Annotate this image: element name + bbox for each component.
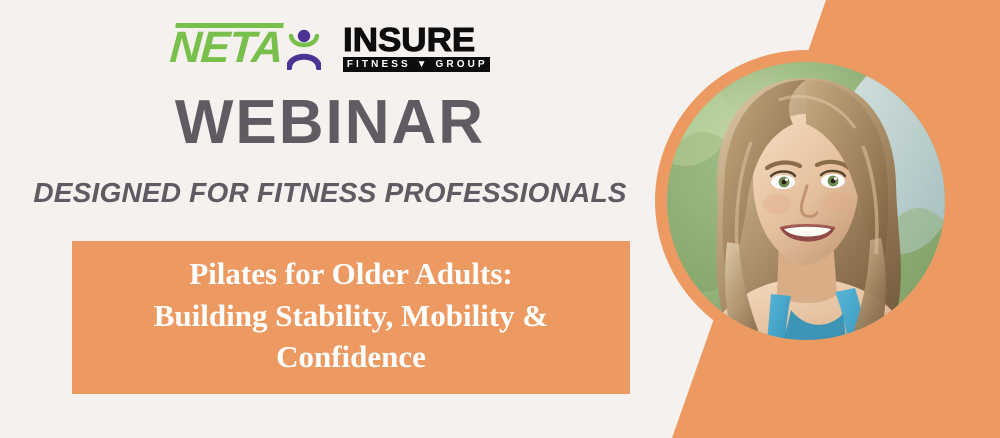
webinar-title-line-3: Confidence (276, 336, 426, 378)
neta-logo: NETA (170, 26, 321, 70)
neta-wordmark: NETA (169, 26, 285, 70)
insure-fitness-group-logo: INSURE FITNESS ▼ GROUP (343, 24, 490, 72)
webinar-title-line-1: Pilates for Older Adults: (189, 253, 513, 295)
page-subtitle: DESIGNED FOR FITNESS PROFESSIONALS (0, 176, 660, 210)
webinar-banner: NETA INSURE FITNESS ▼ GROUP WEBINAR DESI… (0, 0, 1000, 438)
portrait-photo (667, 62, 945, 340)
webinar-title-box: Pilates for Older Adults: Building Stabi… (72, 241, 630, 394)
page-title: WEBINAR (0, 92, 660, 154)
insure-wordmark: INSURE (343, 24, 499, 55)
portrait-illustration (667, 62, 945, 340)
person-figure-icon (287, 26, 321, 70)
insure-subtitle: FITNESS ▼ GROUP (343, 57, 490, 72)
banner-content: NETA INSURE FITNESS ▼ GROUP WEBINAR DESI… (0, 0, 660, 438)
logo-row: NETA INSURE FITNESS ▼ GROUP (0, 24, 660, 72)
webinar-title-line-2: Building Stability, Mobility & (154, 295, 548, 337)
presenter-portrait (655, 50, 957, 352)
